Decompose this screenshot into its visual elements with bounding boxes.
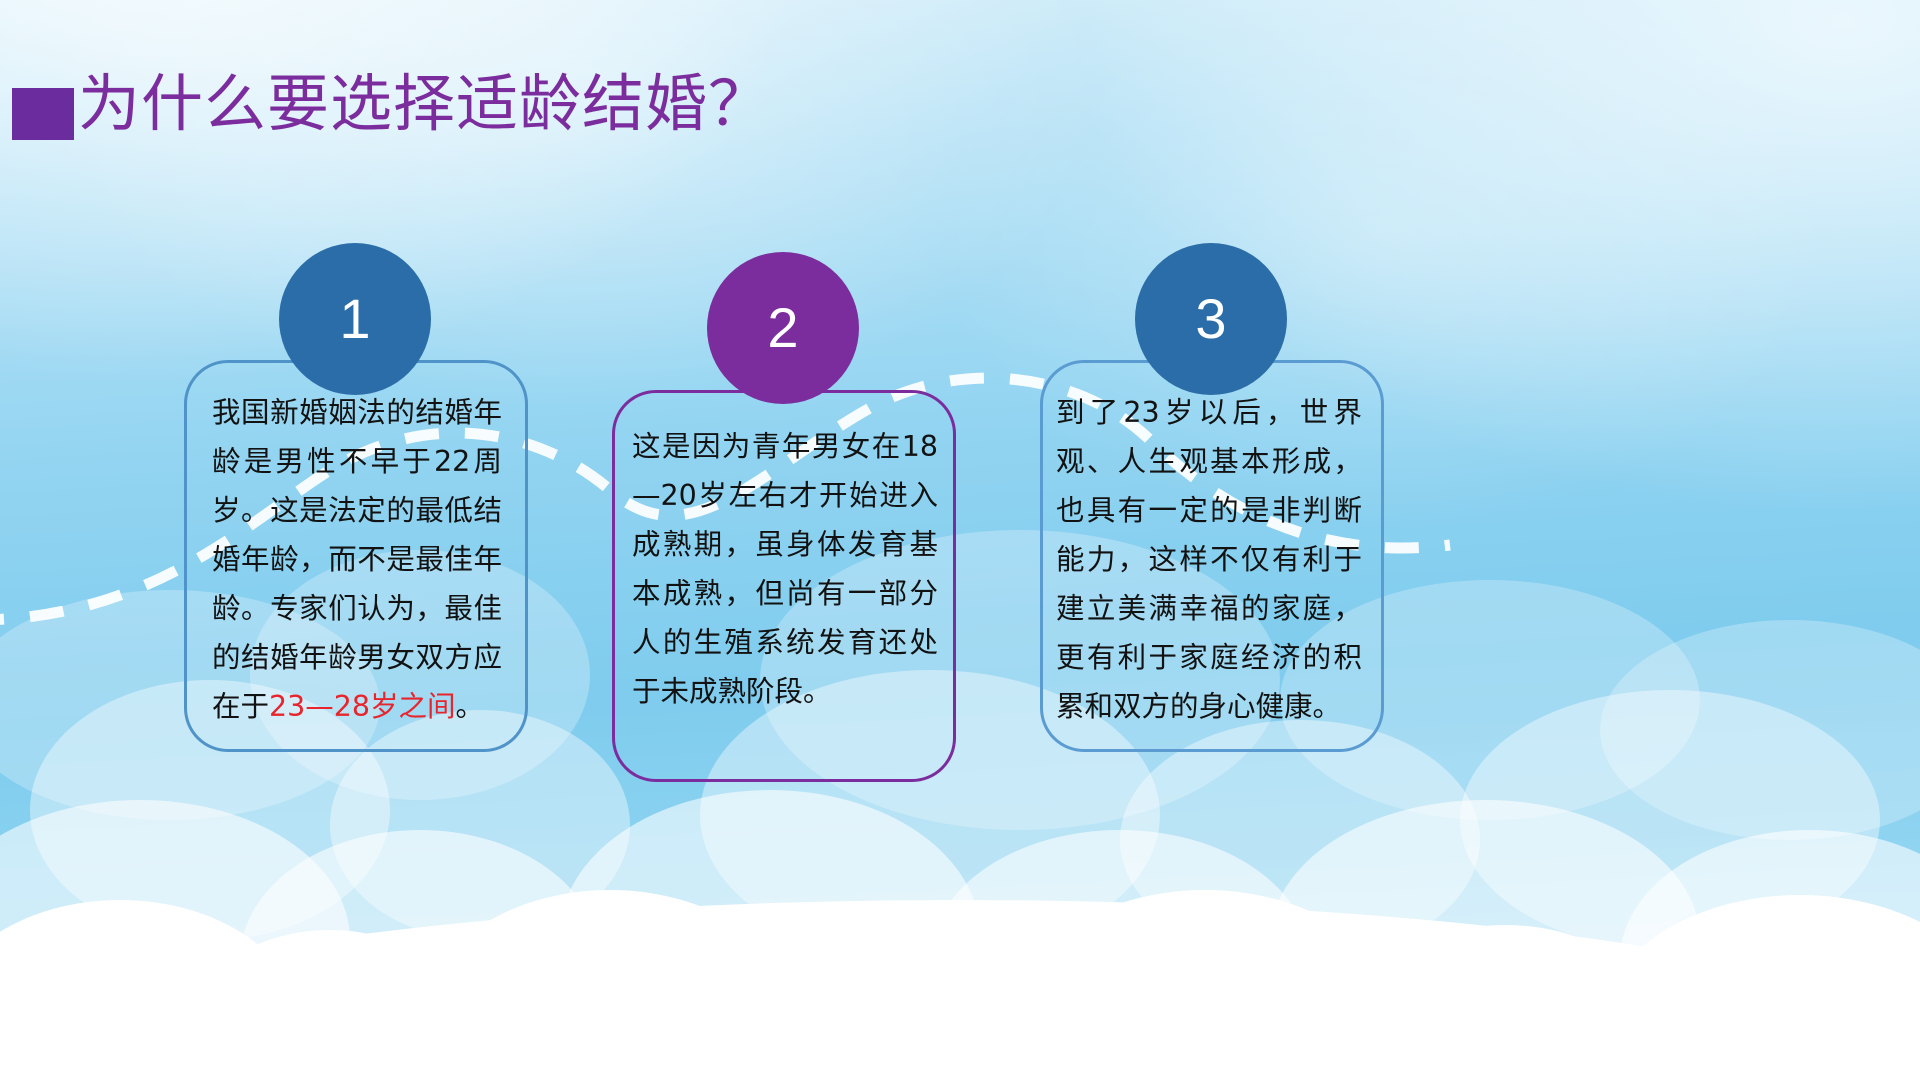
step-number-3: 3: [1195, 291, 1226, 347]
step-bubble-1[interactable]: 1: [279, 243, 431, 395]
card-1-text-before: 我国新婚姻法的结婚年龄是男性不早于22周岁。这是法定的最低结婚年龄，而不是最佳年…: [212, 396, 502, 723]
step-bubble-2[interactable]: 2: [707, 252, 859, 404]
card-1-text: 我国新婚姻法的结婚年龄是男性不早于22周岁。这是法定的最低结婚年龄，而不是最佳年…: [212, 388, 502, 731]
slide-canvas: 为什么要选择适龄结婚？ 1 我国新婚姻法的结婚年龄是男性不早于22周岁。这是法定…: [0, 0, 1920, 1080]
page-title: 为什么要选择适龄结婚？: [78, 74, 771, 136]
step-bubble-3[interactable]: 3: [1135, 243, 1287, 395]
title-accent-square: [12, 88, 74, 140]
card-1-text-highlight: 23—28岁之间: [269, 690, 456, 723]
step-number-1: 1: [339, 291, 370, 347]
card-1-text-after: 。: [456, 690, 485, 723]
card-3-text: 到了23岁以后，世界观、人生观基本形成，也具有一定的是非判断能力，这样不仅有利于…: [1056, 388, 1362, 731]
card-2-text: 这是因为青年男女在18—20岁左右才开始进入成熟期，虽身体发育基本成熟，但尚有一…: [632, 422, 938, 716]
step-number-2: 2: [767, 300, 798, 356]
